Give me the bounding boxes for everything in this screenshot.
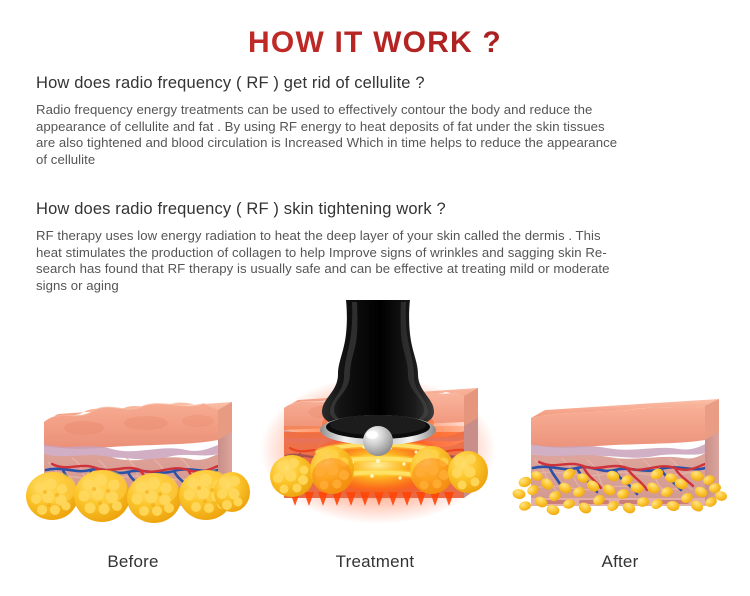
answer-line: signs or aging (36, 278, 724, 295)
fat-lobules (26, 470, 250, 523)
figure-caption-after: After (505, 552, 735, 572)
figure-caption-treatment: Treatment (260, 552, 490, 572)
qa-section-cellulite: How does radio frequency ( RF ) get rid … (36, 74, 726, 168)
answer-paragraph: RF therapy uses low energy radiation to … (36, 228, 724, 294)
figure-row: Before (0, 300, 750, 590)
rf-handpiece (320, 300, 436, 458)
figure-before: Before (18, 388, 248, 572)
page-root: HOW IT WORK ? How does radio frequency (… (0, 0, 750, 596)
skin-diagram-before (18, 388, 248, 538)
answer-line: of cellulite (36, 152, 724, 169)
skin-block-after-icon (505, 388, 735, 538)
answer-line: RF therapy uses low energy radiation to … (36, 228, 724, 245)
figure-after: After (505, 388, 735, 572)
answer-line: appearance of cellulite and fat . By usi… (36, 119, 724, 136)
answer-line: are also tightened and blood circulation… (36, 135, 724, 152)
answer-line: search has found that RF therapy is usua… (36, 261, 724, 278)
skin-diagram-after (505, 388, 735, 538)
figure-treatment: Treatment (260, 300, 490, 572)
page-title: HOW IT WORK ? (0, 26, 750, 60)
treatment-diagram (260, 300, 500, 538)
answer-line: Radio frequency energy treatments can be… (36, 102, 724, 119)
question-heading: How does radio frequency ( RF ) skin tig… (36, 200, 726, 219)
figure-caption-before: Before (18, 552, 248, 572)
question-heading: How does radio frequency ( RF ) get rid … (36, 74, 726, 93)
rf-handpiece-on-skin-icon (260, 300, 500, 538)
answer-line: heat stimulates the production of collag… (36, 245, 724, 262)
answer-paragraph: Radio frequency energy treatments can be… (36, 102, 724, 168)
skin-block-before-icon (18, 388, 248, 538)
qa-section-tightening: How does radio frequency ( RF ) skin tig… (36, 200, 726, 294)
